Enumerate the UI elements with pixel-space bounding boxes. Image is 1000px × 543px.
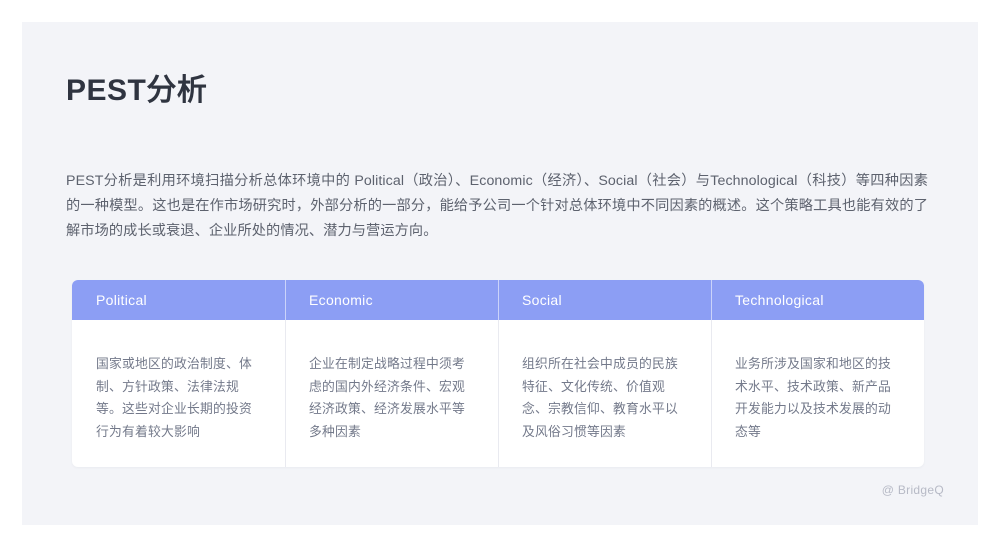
table-header-technological: Technological (711, 280, 924, 320)
pest-table: Political Economic Social Technological … (72, 280, 924, 467)
slide-canvas: PEST分析 PEST分析是利用环境扫描分析总体环境中的 Political（政… (22, 22, 978, 525)
table-cell-political: 国家或地区的政治制度、体制、方针政策、法律法规等。这些对企业长期的投资行为有着较… (72, 320, 285, 467)
table-header-economic: Economic (285, 280, 498, 320)
table-cell-technological: 业务所涉及国家和地区的技术水平、技术政策、新产品开发能力以及技术发展的动态等 (711, 320, 924, 467)
table-header-political: Political (72, 280, 285, 320)
page-title: PEST分析 (66, 73, 207, 109)
table-cell-economic: 企业在制定战略过程中须考虑的国内外经济条件、宏观经济政策、经济发展水平等多种因素 (285, 320, 498, 467)
table-header-social: Social (498, 280, 711, 320)
table-body-row: 国家或地区的政治制度、体制、方针政策、法律法规等。这些对企业长期的投资行为有着较… (72, 320, 924, 467)
intro-paragraph: PEST分析是利用环境扫描分析总体环境中的 Political（政治）、Econ… (66, 169, 928, 244)
table-header-row: Political Economic Social Technological (72, 280, 924, 320)
attribution-label: @ BridgeQ (882, 483, 944, 497)
table-cell-social: 组织所在社会中成员的民族特征、文化传统、价值观念、宗教信仰、教育水平以及风俗习惯… (498, 320, 711, 467)
